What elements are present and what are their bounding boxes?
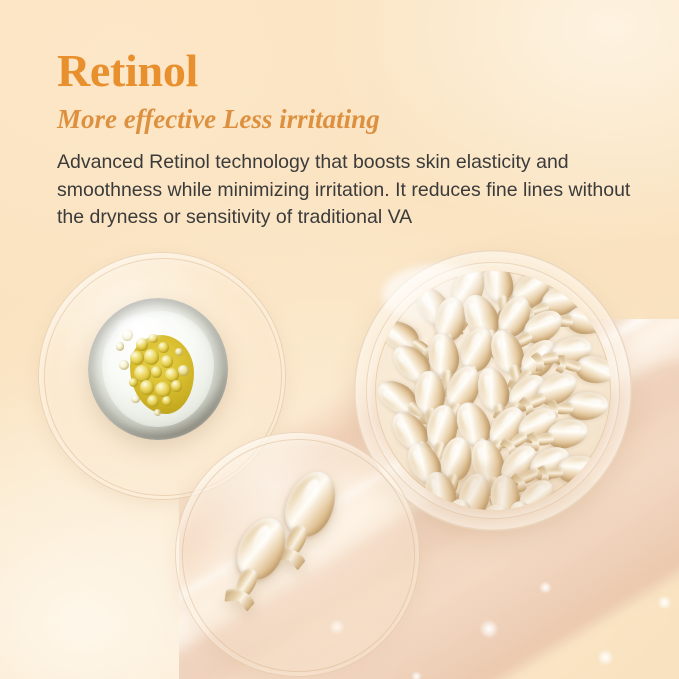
headline-block: Retinol More effective Less irritating A… <box>57 48 637 232</box>
retinol-product-banner: Retinol More effective Less irritating A… <box>0 0 679 679</box>
body-description: Advanced Retinol technology that boosts … <box>57 149 637 232</box>
page-title: Retinol <box>57 48 637 94</box>
retinol-capsule <box>441 498 474 510</box>
oil-droplet-sphere <box>88 298 228 440</box>
page-subtitle: More effective Less irritating <box>57 106 637 133</box>
jar-interior <box>375 271 611 510</box>
droplet-rim-shading <box>88 298 228 440</box>
glass-jar-of-capsules <box>354 250 632 531</box>
